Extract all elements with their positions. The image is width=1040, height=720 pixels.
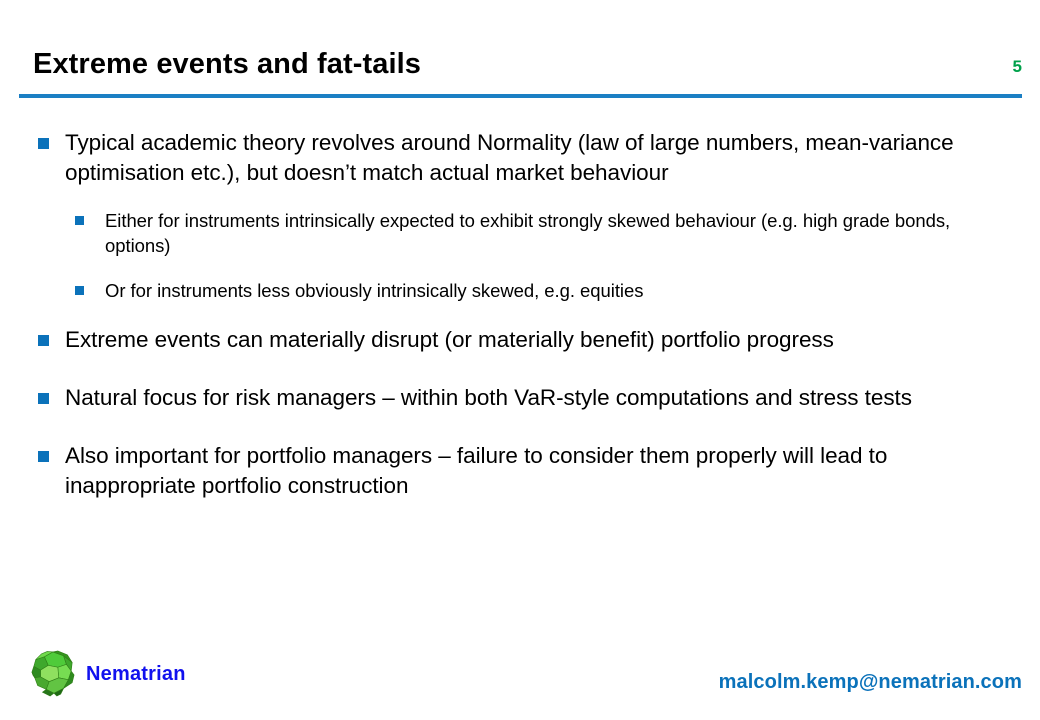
bullet-square-icon: [75, 286, 84, 295]
slide-body: Typical academic theory revolves around …: [0, 128, 1040, 501]
page-number: 5: [1013, 57, 1022, 77]
bullet-text: Extreme events can materially disrupt (o…: [65, 327, 834, 352]
bullet-square-icon: [75, 216, 84, 225]
bullet-square-icon: [38, 451, 49, 462]
page-title: Extreme events and fat-tails: [33, 48, 421, 81]
contact-email[interactable]: malcolm.kemp@nematrian.com: [719, 671, 1022, 694]
bullet-item: Also important for portfolio managers – …: [0, 441, 1010, 501]
sub-bullet-item: Or for instruments less obviously intrin…: [0, 278, 980, 303]
slide: Extreme events and fat-tails 5 Typical a…: [0, 0, 1040, 720]
bullet-item: Typical academic theory revolves around …: [0, 128, 1010, 188]
bullet-square-icon: [38, 335, 49, 346]
bullet-item: Natural focus for risk managers – within…: [0, 383, 1010, 413]
sub-bullet-text: Either for instruments intrinsically exp…: [105, 210, 950, 256]
bullet-square-icon: [38, 393, 49, 404]
brand-name: Nematrian: [86, 663, 186, 686]
sub-bullet-item: Either for instruments intrinsically exp…: [0, 208, 980, 258]
brand-logo-group: Nematrian: [29, 650, 186, 698]
spacer: [0, 307, 1040, 325]
title-divider-rule: [19, 94, 1022, 98]
sub-bullet-text: Or for instruments less obviously intrin…: [105, 280, 643, 301]
bullet-square-icon: [38, 138, 49, 149]
bullet-text: Typical academic theory revolves around …: [65, 130, 954, 185]
bullet-text: Natural focus for risk managers – within…: [65, 385, 912, 410]
slide-footer: Nematrian malcolm.kemp@nematrian.com: [0, 630, 1040, 720]
bullet-item: Extreme events can materially disrupt (o…: [0, 325, 1010, 355]
sub-bullet-list: Either for instruments intrinsically exp…: [0, 208, 1040, 303]
green-polyhedron-sphere-logo-icon: [29, 650, 77, 698]
slide-header: Extreme events and fat-tails 5: [0, 48, 1040, 100]
bullet-text: Also important for portfolio managers – …: [65, 443, 887, 498]
